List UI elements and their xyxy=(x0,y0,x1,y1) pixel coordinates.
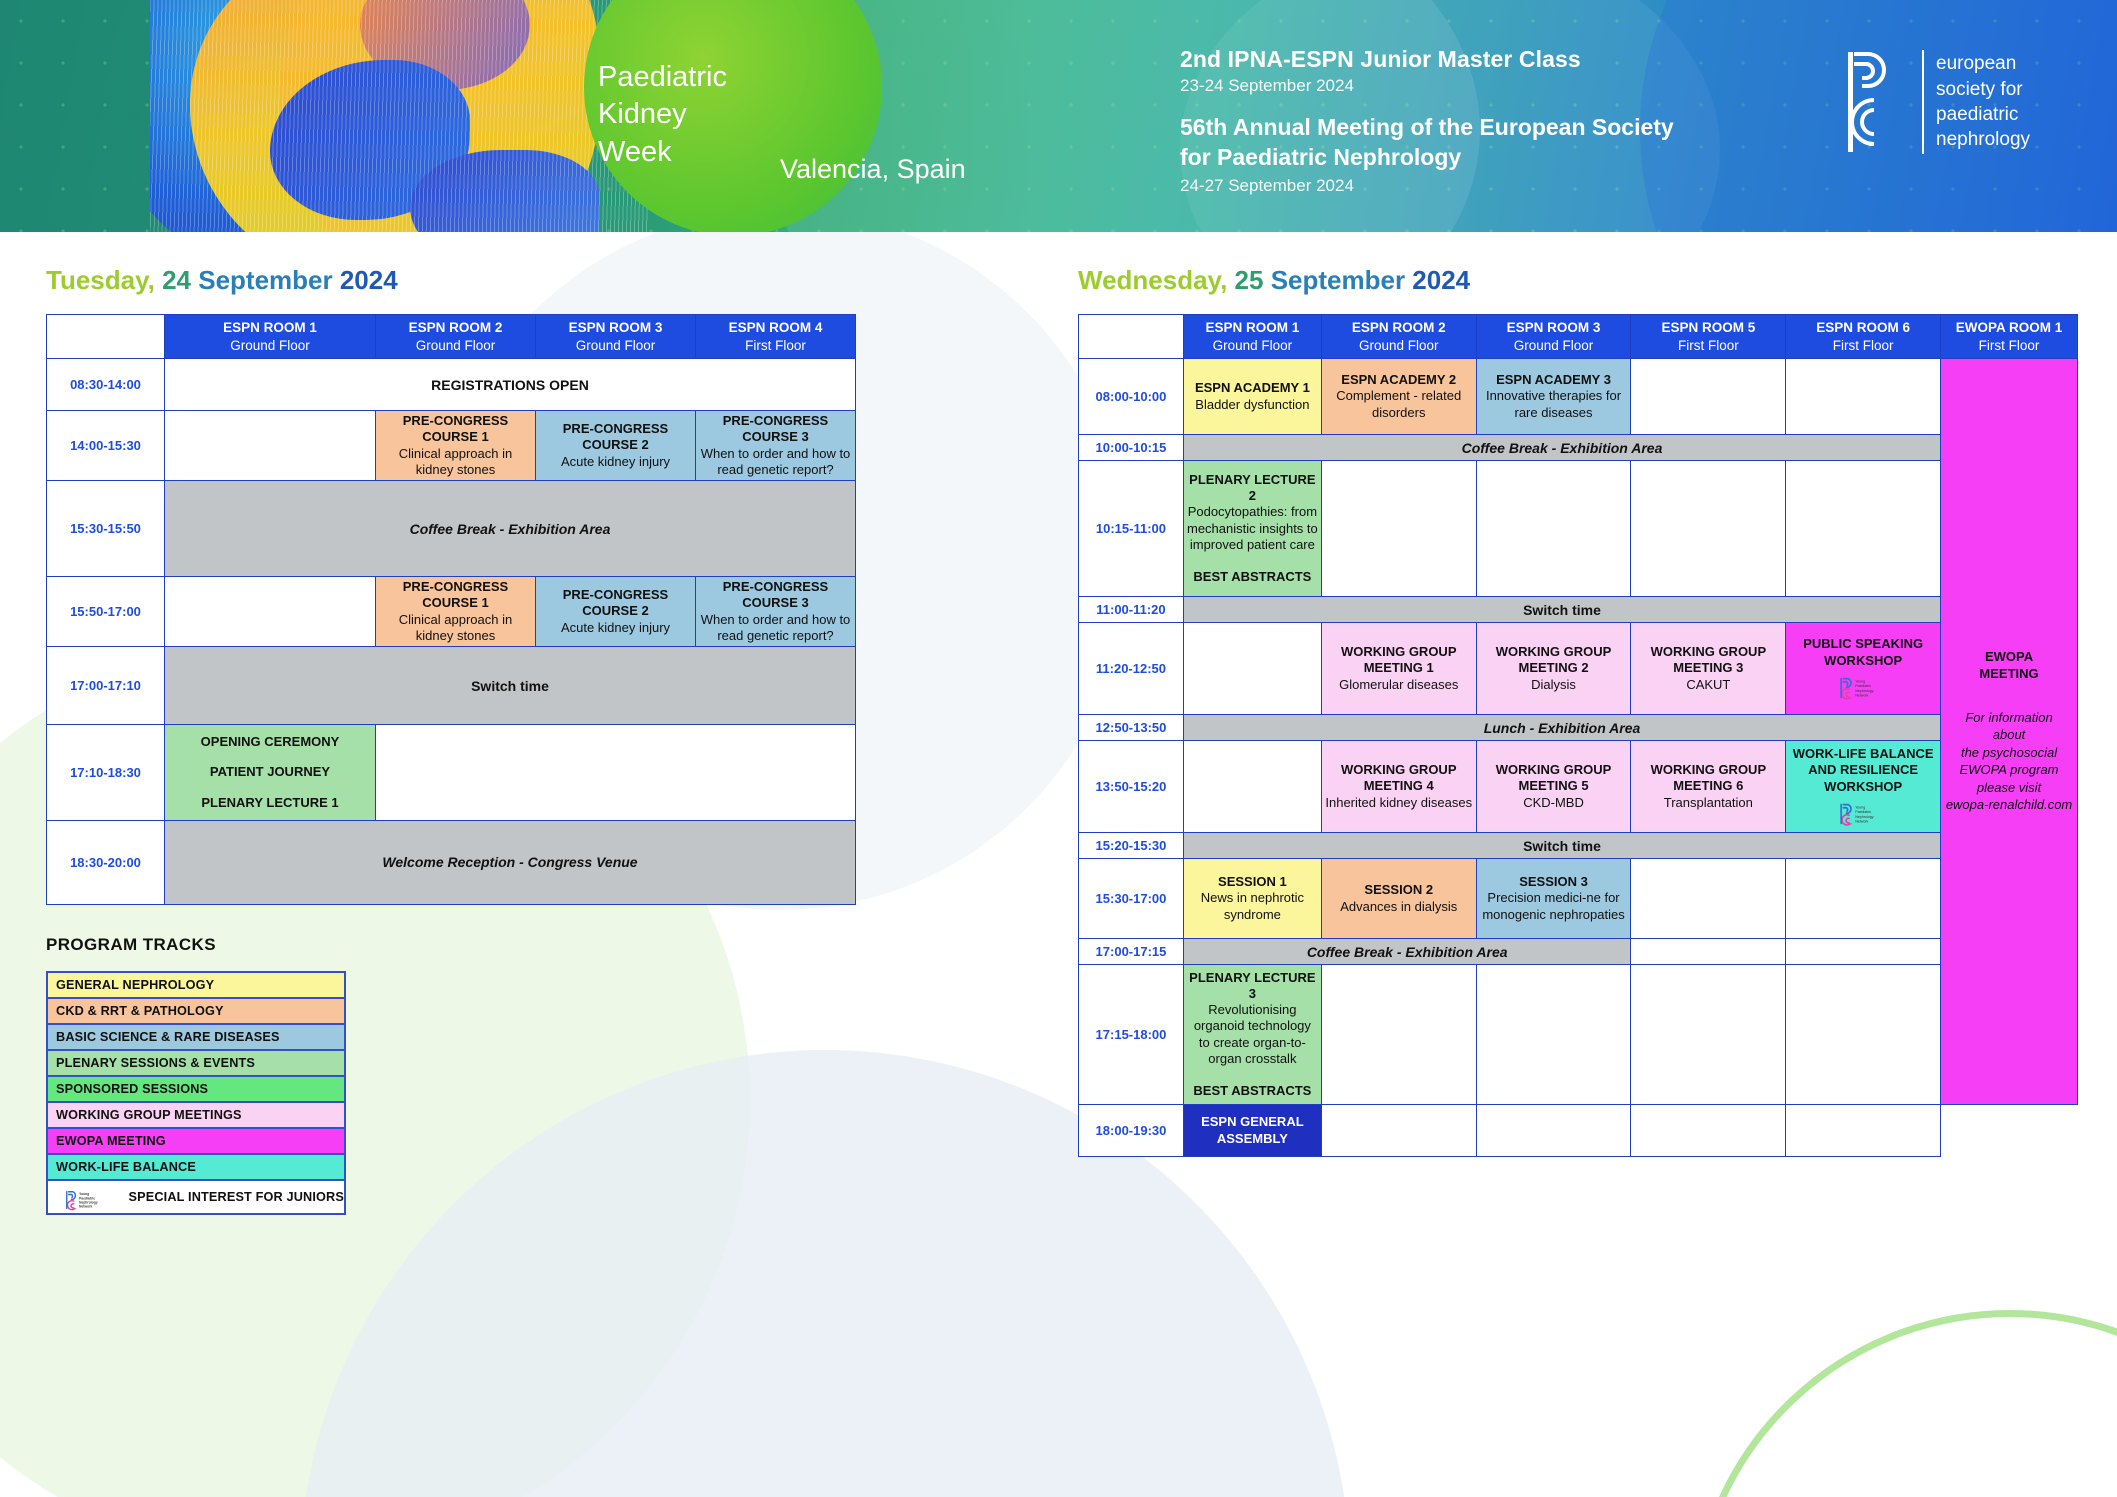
session-title-2: PATIENT JOURNEY xyxy=(168,757,372,787)
session-description: Transplantation xyxy=(1634,795,1782,811)
session-description: Innovative therapies for rare diseases xyxy=(1480,388,1628,421)
session-cell[interactable]: SESSION 1News in nephrotic syndrome xyxy=(1183,859,1321,939)
session-description: CKD-MBD xyxy=(1480,795,1628,811)
empty-slot xyxy=(1786,939,1941,965)
program-tracks-legend: PROGRAM TRACKS GENERAL NEPHROLOGY CKD & … xyxy=(46,935,346,1215)
masterclass-title: 2nd IPNA-ESPN Junior Master Class xyxy=(1180,46,1674,73)
session-cell[interactable]: PRE-CONGRESSCOURSE 3When to order and ho… xyxy=(696,577,856,647)
session-description: Glomerular diseases xyxy=(1325,677,1473,693)
schedule-table-tuesday: ESPN ROOM 1 Ground Floor ESPN ROOM 2 Gro… xyxy=(46,314,856,905)
session-title: PLENARY LECTURE 3 xyxy=(1187,970,1318,1003)
break-label: Welcome Reception - Congress Venue xyxy=(165,820,856,904)
legend-item-label: BASIC SCIENCE & RARE DISEASES xyxy=(56,1030,280,1044)
column-room-floor: Ground Floor xyxy=(379,337,532,355)
schedule-table-wednesday: ESPN ROOM 1 Ground Floor ESPN ROOM 2 Gro… xyxy=(1078,314,2078,1157)
meeting-info: 2nd IPNA-ESPN Junior Master Class 23-24 … xyxy=(1180,46,1674,196)
legend-item-label: PLENARY SESSIONS & EVENTS xyxy=(56,1056,255,1070)
ewopa-info: For informationaboutthe psychosocialEWOP… xyxy=(1944,709,2074,814)
break-label: Coffee Break - Exhibition Area xyxy=(1183,435,1940,461)
table-row: 15:50-17:00 PRE-CONGRESSCOURSE 1Clinical… xyxy=(47,577,856,647)
session-description: Inherited kidney diseases xyxy=(1325,795,1473,811)
session-cell[interactable]: SESSION 2Advances in dialysis xyxy=(1321,859,1476,939)
ewopa-meeting-cell[interactable]: EWOPA MEETING For informationaboutthe ps… xyxy=(1941,359,2078,1105)
wednesday-title-part-2: 25 xyxy=(1227,265,1263,295)
header-corner-blank xyxy=(47,315,165,359)
session-title-2: COURSE 3 xyxy=(699,595,852,611)
table-header-row: ESPN ROOM 1 Ground Floor ESPN ROOM 2 Gro… xyxy=(47,315,856,359)
column-room-name: ESPN ROOM 3 xyxy=(539,319,692,337)
empty-slot xyxy=(1786,359,1941,435)
session-description: Acute kidney injury xyxy=(539,620,692,636)
column-header-ewopa-room-1: EWOPA ROOM 1 First Floor xyxy=(1941,315,2078,359)
ewopa-info-line: ewopa-renalchild.com xyxy=(1944,796,2074,814)
column-room-name: ESPN ROOM 2 xyxy=(379,319,532,337)
wednesday-title-part-1: Wednesday, xyxy=(1078,265,1227,295)
session-cell[interactable]: WORK-LIFE BALANCE AND RESILIENCE WORKSHO… xyxy=(1786,741,1941,833)
tuesday-title-part-3: September xyxy=(191,265,333,295)
column-room-floor: Ground Floor xyxy=(1187,337,1318,355)
time-slot: 18:30-20:00 xyxy=(47,820,165,904)
legend-item-work-life-balance[interactable]: WORK-LIFE BALANCE xyxy=(47,1154,345,1180)
annual-meeting-title: 56th Annual Meeting of the European Soci… xyxy=(1180,112,1674,173)
table-row: 18:30-20:00 Welcome Reception - Congress… xyxy=(47,820,856,904)
table-header-row: ESPN ROOM 1 Ground Floor ESPN ROOM 2 Gro… xyxy=(1079,315,2078,359)
column-room-name: EWOPA ROOM 1 xyxy=(1944,319,2074,337)
session-cell[interactable]: PRE-CONGRESSCOURSE 1Clinical approach in… xyxy=(376,411,536,481)
column-room-floor: Ground Floor xyxy=(1325,337,1473,355)
ewopa-info-line: please visit xyxy=(1944,779,2074,797)
empty-slot xyxy=(1631,1105,1786,1157)
session-cell[interactable]: PUBLIC SPEAKING WORKSHOP YoungPaediatric… xyxy=(1786,623,1941,715)
espn-logo-line-3: paediatric xyxy=(1936,102,2030,127)
svg-text:Nephrology: Nephrology xyxy=(1855,689,1874,693)
column-header-espn-room-1: ESPN ROOM 1 Ground Floor xyxy=(1183,315,1321,359)
column-room-name: ESPN ROOM 2 xyxy=(1325,319,1473,337)
tuesday-title-part-1: Tuesday, xyxy=(46,265,155,295)
session-description: When to order and how to read genetic re… xyxy=(699,612,852,645)
session-description: Clinical approach in kidney stones xyxy=(379,446,532,479)
table-row: 17:00-17:15 Coffee Break - Exhibition Ar… xyxy=(1079,939,2078,965)
empty-slot xyxy=(1321,1105,1476,1157)
empty-slot xyxy=(1476,1105,1631,1157)
column-room-floor: First Floor xyxy=(699,337,852,355)
legend-item-label: SPECIAL INTEREST FOR JUNIORS xyxy=(129,1190,344,1204)
session-description: Revolutionising organoid technology to c… xyxy=(1187,1002,1318,1067)
column-header-espn-room-2: ESPN ROOM 2 Ground Floor xyxy=(1321,315,1476,359)
table-row: 15:20-15:30 Switch time xyxy=(1079,833,2078,859)
session-title: PRE-CONGRESS xyxy=(539,587,692,603)
wednesday-title-part-3: September xyxy=(1263,265,1405,295)
session-title: WORKING GROUP MEETING 4 xyxy=(1325,762,1473,795)
table-row: 12:50-13:50 Lunch - Exhibition Area xyxy=(1079,715,2078,741)
session-title: PRE-CONGRESS xyxy=(699,413,852,429)
empty-slot xyxy=(1786,859,1941,939)
session-cell[interactable]: ESPN ACADEMY 3Innovative therapies for r… xyxy=(1476,359,1631,435)
empty-slot xyxy=(1321,965,1476,1105)
legend-item-basic-science-rare-diseases[interactable]: BASIC SCIENCE & RARE DISEASES xyxy=(47,1024,345,1050)
event-name: Paediatric Kidney Week xyxy=(584,3,882,170)
column-header-espn-room-3: ESPN ROOM 3 Ground Floor xyxy=(1476,315,1631,359)
empty-slot xyxy=(376,725,856,821)
session-cell[interactable]: PLENARY LECTURE 2Podocytopathies: from m… xyxy=(1183,461,1321,597)
svg-text:Paediatric: Paediatric xyxy=(79,1196,95,1200)
banner-artwork xyxy=(150,0,650,232)
session-title-2: COURSE 2 xyxy=(539,437,692,453)
empty-slot xyxy=(165,411,376,481)
table-row: 17:15-18:00 PLENARY LECTURE 3Revolutioni… xyxy=(1079,965,2078,1105)
table-row: 10:00-10:15 Coffee Break - Exhibition Ar… xyxy=(1079,435,2078,461)
day-title-wednesday: Wednesday, 25 September 2024 xyxy=(1078,265,2078,296)
time-slot: 10:00-10:15 xyxy=(1079,435,1184,461)
legend-item-label: SPONSORED SESSIONS xyxy=(56,1082,208,1096)
break-label: Coffee Break - Exhibition Area xyxy=(165,481,856,577)
empty-slot xyxy=(1476,965,1631,1105)
tuesday-title-part-4: 2024 xyxy=(333,265,398,295)
break-label: Coffee Break - Exhibition Area xyxy=(1183,939,1631,965)
session-title-3: PLENARY LECTURE 1 xyxy=(168,788,372,818)
session-title: PLENARY LECTURE 2 xyxy=(1187,472,1318,505)
table-row: 17:10-18:30 OPENING CEREMONY PATIENT JOU… xyxy=(47,725,856,821)
session-title-2: COURSE 1 xyxy=(379,595,532,611)
full-width-label: REGISTRATIONS OPEN xyxy=(165,359,856,411)
time-slot: 14:00-15:30 xyxy=(47,411,165,481)
legend-item-ewopa-meeting[interactable]: EWOPA MEETING xyxy=(47,1128,345,1154)
annual-meeting-dates: 24-27 September 2024 xyxy=(1180,176,1674,196)
session-cell[interactable]: SESSION 3Precision medici-ne for monogen… xyxy=(1476,859,1631,939)
annual-meeting-title-line-1: 56th Annual Meeting of the European Soci… xyxy=(1180,112,1674,142)
column-room-floor: Ground Floor xyxy=(1480,337,1628,355)
day-title-tuesday: Tuesday, 24 September 2024 xyxy=(46,265,1026,296)
session-description: Bladder dysfunction xyxy=(1187,397,1318,413)
legend-item-general-nephrology[interactable]: GENERAL NEPHROLOGY xyxy=(47,972,345,998)
session-title: WORKING GROUP MEETING 1 xyxy=(1325,644,1473,677)
ewopa-heading-line-2: MEETING xyxy=(1944,666,2074,683)
empty-slot xyxy=(1183,741,1321,833)
legend-item-ckd-rrt-pathology[interactable]: CKD & RRT & PATHOLOGY xyxy=(47,998,345,1024)
column-room-name: ESPN ROOM 1 xyxy=(168,319,372,337)
session-description: Advances in dialysis xyxy=(1325,899,1473,915)
table-row: 08:30-14:00 REGISTRATIONS OPEN xyxy=(47,359,856,411)
session-description: Podocytopathies: from mechanistic insigh… xyxy=(1187,504,1318,553)
session-cell[interactable]: WORKING GROUP MEETING 4Inherited kidney … xyxy=(1321,741,1476,833)
session-cell[interactable]: PRE-CONGRESSCOURSE 1Clinical approach in… xyxy=(376,577,536,647)
empty-slot xyxy=(1183,623,1321,715)
ewopa-info-line: EWOPA program xyxy=(1944,761,2074,779)
session-title: PRE-CONGRESS xyxy=(699,579,852,595)
legend-item-working-group-meetings[interactable]: WORKING GROUP MEETINGS xyxy=(47,1102,345,1128)
svg-text:Network: Network xyxy=(1855,693,1868,697)
legend-item-label: WORKING GROUP MEETINGS xyxy=(56,1108,242,1122)
session-cell[interactable]: PRE-CONGRESSCOURSE 2Acute kidney injury xyxy=(536,411,696,481)
session-cell[interactable]: WORKING GROUP MEETING 6Transplantation xyxy=(1631,741,1786,833)
table-row: 14:00-15:30 PRE-CONGRESSCOURSE 1Clinical… xyxy=(47,411,856,481)
table-row: 15:30-15:50 Coffee Break - Exhibition Ar… xyxy=(47,481,856,577)
column-header-espn-room-6: ESPN ROOM 6 First Floor xyxy=(1786,315,1941,359)
session-title: PRE-CONGRESS xyxy=(539,421,692,437)
column-header-espn-room-5: ESPN ROOM 5 First Floor xyxy=(1631,315,1786,359)
time-slot: 13:50-15:20 xyxy=(1079,741,1184,833)
espn-logo-line-1: european xyxy=(1936,51,2030,76)
empty-slot xyxy=(1321,461,1476,597)
time-slot: 10:15-11:00 xyxy=(1079,461,1184,597)
session-title: ESPN ACADEMY 2 xyxy=(1325,372,1473,388)
session-title: WORKING GROUP MEETING 5 xyxy=(1480,762,1628,795)
break-label: Lunch - Exhibition Area xyxy=(1183,715,1940,741)
time-slot: 17:00-17:10 xyxy=(47,647,165,725)
session-cell[interactable]: ESPN ACADEMY 2Complement - related disor… xyxy=(1321,359,1476,435)
legend-item-label: WORK-LIFE BALANCE xyxy=(56,1160,196,1174)
session-footer: BEST ABSTRACTS xyxy=(1187,1083,1318,1099)
time-slot: 15:30-17:00 xyxy=(1079,859,1184,939)
svg-text:Paediatric: Paediatric xyxy=(1855,684,1871,688)
table-row: 11:00-11:20 Switch time xyxy=(1079,597,2078,623)
annual-meeting-title-line-2: for Paediatric Nephrology xyxy=(1180,142,1674,172)
event-name-line-2: Kidney xyxy=(598,96,882,133)
session-title: PUBLIC SPEAKING WORKSHOP xyxy=(1789,636,1937,669)
session-title: PRE-CONGRESS xyxy=(379,579,532,595)
session-title-2: COURSE 2 xyxy=(539,603,692,619)
empty-slot xyxy=(1476,461,1631,597)
svg-text:Nephrology: Nephrology xyxy=(1855,815,1874,819)
ewopa-heading: EWOPA MEETING xyxy=(1944,649,2074,683)
column-header-espn-room-1: ESPN ROOM 1 Ground Floor xyxy=(165,315,376,359)
session-cell[interactable]: PLENARY LECTURE 3Revolutionising organoi… xyxy=(1183,965,1321,1105)
session-cell[interactable]: WORKING GROUP MEETING 1Glomerular diseas… xyxy=(1321,623,1476,715)
table-row: 11:20-12:50 WORKING GROUP MEETING 1Glome… xyxy=(1079,623,2078,715)
column-header-espn-room-4: ESPN ROOM 4 First Floor xyxy=(696,315,856,359)
session-title: SESSION 3 xyxy=(1480,874,1628,890)
column-room-floor: First Floor xyxy=(1944,337,2074,355)
legend-item-plenary-sessions-events[interactable]: PLENARY SESSIONS & EVENTS xyxy=(47,1050,345,1076)
espn-logo-text: european society for paediatric nephrolo… xyxy=(1936,51,2030,152)
juniors-badge-icon: YoungPaediatric NephrologyNetwork xyxy=(64,1187,108,1213)
session-footer: BEST ABSTRACTS xyxy=(1187,569,1318,585)
legend-item-label: EWOPA MEETING xyxy=(56,1134,166,1148)
break-label: Switch time xyxy=(1183,833,1940,859)
session-cell[interactable]: OPENING CEREMONY PATIENT JOURNEY PLENARY… xyxy=(165,725,376,821)
column-room-name: ESPN ROOM 4 xyxy=(699,319,852,337)
session-cell[interactable]: PRE-CONGRESSCOURSE 3When to order and ho… xyxy=(696,411,856,481)
session-title: ESPN GENERAL ASSEMBLY xyxy=(1187,1114,1318,1147)
legend-title: PROGRAM TRACKS xyxy=(46,935,346,955)
column-header-espn-room-3: ESPN ROOM 3 Ground Floor xyxy=(536,315,696,359)
time-slot: 15:20-15:30 xyxy=(1079,833,1184,859)
column-room-floor: Ground Floor xyxy=(168,337,372,355)
espn-logo-line-2: society for xyxy=(1936,77,2030,102)
empty-slot xyxy=(165,577,376,647)
session-title: ESPN ACADEMY 3 xyxy=(1480,372,1628,388)
table-row: 13:50-15:20 WORKING GROUP MEETING 4Inher… xyxy=(1079,741,2078,833)
session-cell[interactable]: PRE-CONGRESSCOURSE 2Acute kidney injury xyxy=(536,577,696,647)
empty-slot xyxy=(1631,859,1786,939)
session-description: CAKUT xyxy=(1634,677,1782,693)
column-room-name: ESPN ROOM 3 xyxy=(1480,319,1628,337)
session-cell[interactable]: ESPN ACADEMY 1Bladder dysfunction xyxy=(1183,359,1321,435)
ewopa-info-line: For information xyxy=(1944,709,2074,727)
espn-logo-line-4: nephrology xyxy=(1936,127,2030,152)
masterclass-dates: 23-24 September 2024 xyxy=(1180,76,1674,96)
empty-slot xyxy=(1786,1105,1941,1157)
session-title: WORKING GROUP MEETING 3 xyxy=(1634,644,1782,677)
session-cell[interactable]: WORKING GROUP MEETING 3CAKUT xyxy=(1631,623,1786,715)
session-cell[interactable]: WORKING GROUP MEETING 5CKD-MBD xyxy=(1476,741,1631,833)
juniors-badge-icon: YoungPaediatric NephrologyNetwork xyxy=(1838,802,1888,826)
espn-logo-divider xyxy=(1922,50,1924,154)
empty-slot xyxy=(1631,939,1786,965)
svg-text:Young: Young xyxy=(1855,679,1865,683)
ewopa-heading-line-1: EWOPA xyxy=(1944,649,2074,666)
session-description: Clinical approach in kidney stones xyxy=(379,612,532,645)
column-header-espn-room-2: ESPN ROOM 2 Ground Floor xyxy=(376,315,536,359)
svg-text:Young: Young xyxy=(79,1192,89,1196)
session-description: Precision medici-ne for monogenic nephro… xyxy=(1480,890,1628,923)
session-title: SESSION 1 xyxy=(1187,874,1318,890)
svg-text:Network: Network xyxy=(79,1205,92,1209)
column-room-floor: First Floor xyxy=(1789,337,1937,355)
table-row: 18:00-19:30 ESPN GENERAL ASSEMBLY xyxy=(1079,1105,2078,1157)
time-slot: 08:00-10:00 xyxy=(1079,359,1184,435)
break-label: Switch time xyxy=(165,647,856,725)
svg-text:Nephrology: Nephrology xyxy=(79,1200,98,1204)
svg-text:Paediatric: Paediatric xyxy=(1855,810,1871,814)
table-row: 10:15-11:00 PLENARY LECTURE 2Podocytopat… xyxy=(1079,461,2078,597)
table-row: 15:30-17:00 SESSION 1News in nephrotic s… xyxy=(1079,859,2078,939)
time-slot: 15:30-15:50 xyxy=(47,481,165,577)
legend-box: GENERAL NEPHROLOGY CKD & RRT & PATHOLOGY… xyxy=(46,971,346,1215)
day-section-wednesday: Wednesday, 25 September 2024 ESPN ROOM 1… xyxy=(1078,265,2078,1157)
time-slot: 17:15-18:00 xyxy=(1079,965,1184,1105)
espn-logo-icon xyxy=(1840,48,1910,156)
session-description: Complement - related disorders xyxy=(1325,388,1473,421)
header-banner: Paediatric Kidney Week Valencia, Spain 2… xyxy=(0,0,2117,232)
tuesday-title-part-2: 24 xyxy=(155,265,191,295)
program-page: Paediatric Kidney Week Valencia, Spain 2… xyxy=(0,0,2117,1497)
column-room-name: ESPN ROOM 6 xyxy=(1789,319,1937,337)
session-title: WORKING GROUP MEETING 2 xyxy=(1480,644,1628,677)
juniors-badge-icon: YoungPaediatric NephrologyNetwork xyxy=(1838,676,1888,700)
header-corner-blank xyxy=(1079,315,1184,359)
wednesday-title-part-4: 2024 xyxy=(1405,265,1470,295)
table-row: 17:00-17:10 Switch time xyxy=(47,647,856,725)
session-title: WORKING GROUP MEETING 6 xyxy=(1634,762,1782,795)
session-description: Dialysis xyxy=(1480,677,1628,693)
session-description: Acute kidney injury xyxy=(539,454,692,470)
break-label: Switch time xyxy=(1183,597,1940,623)
legend-item-label: CKD & RRT & PATHOLOGY xyxy=(56,1004,224,1018)
event-venue: Valencia, Spain xyxy=(780,154,966,185)
time-slot: 08:30-14:00 xyxy=(47,359,165,411)
session-cell[interactable]: WORKING GROUP MEETING 2Dialysis xyxy=(1476,623,1631,715)
svg-text:Network: Network xyxy=(1855,819,1868,823)
empty-slot xyxy=(1786,461,1941,597)
session-description: When to order and how to read genetic re… xyxy=(699,446,852,479)
time-slot: 15:50-17:00 xyxy=(47,577,165,647)
session-title: PRE-CONGRESS xyxy=(379,413,532,429)
session-title: SESSION 2 xyxy=(1325,882,1473,898)
session-description: News in nephrotic syndrome xyxy=(1187,890,1318,923)
event-name-line-1: Paediatric xyxy=(598,59,882,96)
svg-text:Young: Young xyxy=(1855,805,1865,809)
column-room-floor: First Floor xyxy=(1634,337,1782,355)
empty-slot xyxy=(1631,461,1786,597)
session-title-2: COURSE 1 xyxy=(379,429,532,445)
empty-slot xyxy=(1631,359,1786,435)
background-ring-green xyxy=(1690,1310,2117,1497)
time-slot: 18:00-19:30 xyxy=(1079,1105,1184,1157)
column-room-name: ESPN ROOM 1 xyxy=(1187,319,1318,337)
column-room-floor: Ground Floor xyxy=(539,337,692,355)
session-title: ESPN ACADEMY 1 xyxy=(1187,380,1318,396)
time-slot: 11:00-11:20 xyxy=(1079,597,1184,623)
session-title: WORK-LIFE BALANCE AND RESILIENCE WORKSHO… xyxy=(1789,746,1937,795)
time-slot: 17:10-18:30 xyxy=(47,725,165,821)
legend-item-label: GENERAL NEPHROLOGY xyxy=(56,978,214,992)
time-slot: 12:50-13:50 xyxy=(1079,715,1184,741)
session-title-2: COURSE 3 xyxy=(699,429,852,445)
column-room-name: ESPN ROOM 5 xyxy=(1634,319,1782,337)
legend-item-special-interest-for-juniors[interactable]: YoungPaediatric NephrologyNetwork SPECIA… xyxy=(47,1180,345,1214)
day-section-tuesday: Tuesday, 24 September 2024 ESPN ROOM 1 G… xyxy=(46,265,1026,905)
session-title: OPENING CEREMONY xyxy=(168,727,372,757)
time-slot: 11:20-12:50 xyxy=(1079,623,1184,715)
time-slot: 17:00-17:15 xyxy=(1079,939,1184,965)
empty-slot xyxy=(1786,965,1941,1105)
legend-item-sponsored-sessions[interactable]: SPONSORED SESSIONS xyxy=(47,1076,345,1102)
empty-slot xyxy=(1631,965,1786,1105)
session-cell[interactable]: ESPN GENERAL ASSEMBLY xyxy=(1183,1105,1321,1157)
ewopa-info-line: about xyxy=(1944,726,2074,744)
ewopa-info-line: the psychosocial xyxy=(1944,744,2074,762)
table-row: 08:00-10:00 ESPN ACADEMY 1Bladder dysfun… xyxy=(1079,359,2078,435)
espn-logo: european society for paediatric nephrolo… xyxy=(1840,48,2030,156)
